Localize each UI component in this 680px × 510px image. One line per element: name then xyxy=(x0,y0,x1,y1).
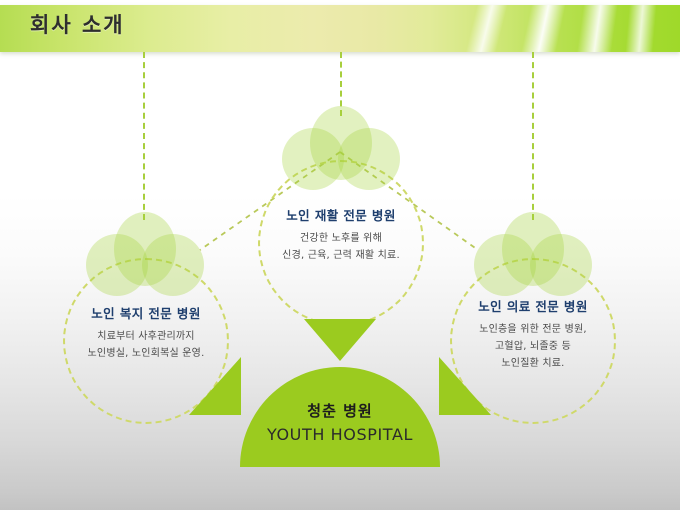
branch-title: 노인 의료 전문 병원 xyxy=(433,296,633,315)
drop-line-right xyxy=(532,52,534,220)
slide-canvas: 회사 소개 노인 복지 전문 병원 치료부터 사후관리까지 노인병실, 노인회복… xyxy=(0,0,680,510)
page-title: 회사 소개 xyxy=(30,9,125,39)
clover-welfare xyxy=(86,212,204,312)
center-node-title: 청춘 병원 xyxy=(240,400,440,421)
arrow-right-icon xyxy=(439,357,491,415)
clover-petal xyxy=(502,212,564,286)
clover-petal xyxy=(310,106,372,180)
branch-text-rehab: 노인 재활 전문 병원 건강한 노후를 위해 신경, 근육, 근력 재활 치료. xyxy=(241,205,441,264)
center-node-subtitle: YOUTH HOSPITAL xyxy=(240,425,440,444)
branch-line: 신경, 근육, 근력 재활 치료. xyxy=(241,247,441,264)
branch-line: 고혈압, 뇌졸중 등 xyxy=(433,338,633,355)
clover-petal xyxy=(114,212,176,286)
arrow-down-icon xyxy=(304,319,376,361)
drop-line-left xyxy=(143,52,145,220)
center-node-dome: 청춘 병원 YOUTH HOSPITAL xyxy=(240,367,440,467)
branch-title: 노인 재활 전문 병원 xyxy=(241,205,441,224)
branch-line: 노인층을 위한 전문 병원, xyxy=(433,321,633,338)
arrow-left-icon xyxy=(189,357,241,415)
branch-line: 치료부터 사후관리까지 xyxy=(46,328,246,345)
branch-text-welfare: 노인 복지 전문 병원 치료부터 사후관리까지 노인병실, 노인회복실 운영. xyxy=(46,303,246,362)
branch-title: 노인 복지 전문 병원 xyxy=(46,303,246,322)
clover-rehab xyxy=(282,106,400,206)
branch-line: 건강한 노후를 위해 xyxy=(241,230,441,247)
